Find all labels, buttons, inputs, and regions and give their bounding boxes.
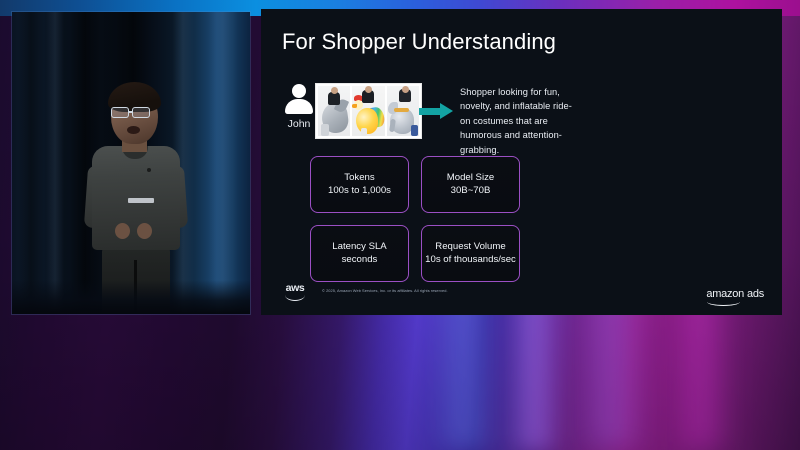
curtain-fold-light [46,12,64,314]
spec-card-value: 100s to 1,000s [328,185,391,197]
spec-card-value: 30B~70B [451,185,491,197]
shark-rider-head [331,87,338,94]
spec-card-value: 10s of thousands/sec [425,254,516,266]
glasses-bridge [129,111,133,113]
glasses-lens-right [132,107,150,118]
speaker-video-panel[interactable] [12,12,250,314]
curtain-fold-dark [18,12,44,314]
amazon-wordmark: amazon [706,288,744,300]
curtain-fold-light [208,12,238,314]
arrow-shaft [419,108,442,115]
speaker-hand-left [115,223,130,239]
elephant-collar [394,108,409,112]
persona-description: Shopper looking for fun, novelty, and in… [460,85,580,157]
spec-card-title: Model Size [447,172,494,184]
spec-card-tokens[interactable]: Tokens 100s to 1,000s [310,156,409,213]
spec-card-title: Tokens [344,172,374,184]
person-icon [283,83,315,115]
speaker-shirt-graphic [128,198,154,203]
chicken-body [356,108,378,134]
spec-card-value: seconds [342,254,378,266]
slide-footer: aws © 2025, Amazon Web Services, Inc. or… [261,281,782,307]
costume-photo-strip [315,83,422,139]
spec-card-title: Latency SLA [332,241,386,253]
costume-photo-shark [318,86,350,136]
stage-floor-shadow [12,280,250,314]
amazon-smile-icon [707,301,740,306]
aws-smile-icon [285,295,305,301]
speaker-mouth [127,126,140,134]
amazon-ads-logo: amazon ads [706,284,764,302]
arrow-right-icon [419,103,453,119]
spec-card-request-volume[interactable]: Request Volume 10s of thousands/sec [421,225,520,282]
arrow-head [440,103,453,119]
glasses-lens-left [111,107,129,118]
lapel-mic-icon [147,168,151,172]
aws-logo: aws [282,283,308,301]
chicken-rider-leg [361,128,367,136]
costume-photo-chicken [352,86,384,136]
spec-card-grid: Tokens 100s to 1,000s Model Size 30B~70B… [310,156,520,282]
presentation-stage: For Shopper Understanding John [0,0,800,450]
elephant-rider-head [402,86,409,93]
person-icon-body [285,99,313,114]
elephant-rider-leg [411,125,418,136]
aws-logo-text: aws [282,283,308,294]
slide-panel[interactable]: For Shopper Understanding John [261,9,782,315]
spec-card-title: Request Volume [435,241,505,253]
costume-photo-elephant [387,86,419,136]
slide-title: For Shopper Understanding [282,29,556,55]
speaker-hand-right [137,223,152,239]
spec-card-model-size[interactable]: Model Size 30B~70B [421,156,520,213]
person-icon-head [292,84,306,98]
ads-wordmark: ads [747,289,764,300]
shark-rider-leg [321,124,329,136]
spec-card-latency-sla[interactable]: Latency SLA seconds [310,225,409,282]
amazon-wordmark-wrap: amazon [706,284,744,302]
copyright-text: © 2025, Amazon Web Services, Inc. or its… [322,288,448,293]
